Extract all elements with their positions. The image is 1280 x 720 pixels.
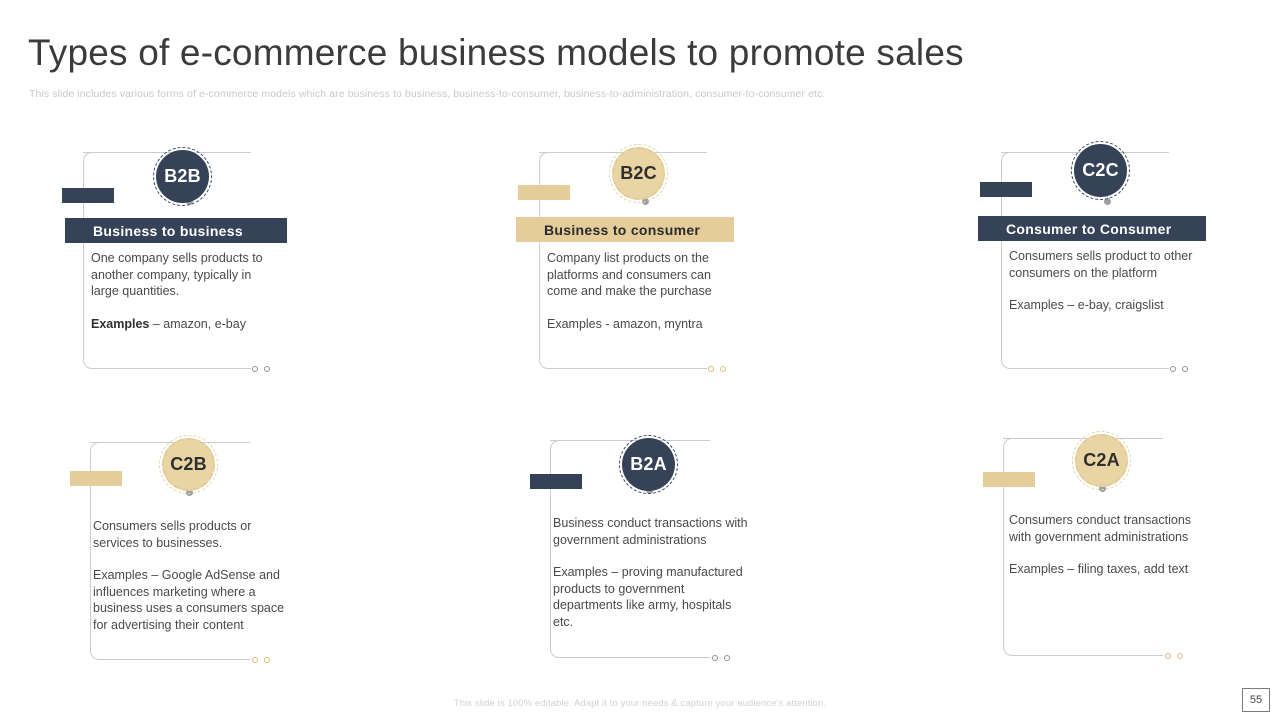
card-examples: Examples – amazon, e-bay <box>91 316 281 333</box>
card-accent-bar <box>62 188 114 203</box>
examples-text: – amazon, e-bay <box>149 317 246 331</box>
end-circle-2 <box>724 655 730 661</box>
examples-text: Examples – proving manufactured products… <box>553 565 743 629</box>
card-body: Business conduct transactions with gover… <box>553 515 751 630</box>
card-b2c[interactable]: B2C Business to consumer Company list pr… <box>518 140 748 380</box>
card-title: Business to consumer <box>544 222 700 238</box>
card-accent-bar <box>518 185 570 200</box>
badge-dashed-ring <box>619 435 678 494</box>
end-circle-1 <box>252 366 258 372</box>
page-subtitle: This slide includes various forms of e-c… <box>29 88 825 100</box>
page-title: Types of e-commerce business models to p… <box>28 32 964 74</box>
badge-b2a[interactable]: B2A <box>622 438 675 491</box>
card-description: Consumers conduct transactions with gove… <box>1009 512 1209 545</box>
badge-dashed-ring <box>1071 141 1130 200</box>
examples-text: Examples – Google AdSense and influences… <box>93 568 284 632</box>
slide-canvas: Types of e-commerce business models to p… <box>0 0 1280 720</box>
card-body: One company sells products to another co… <box>91 250 281 332</box>
examples-text: Examples - amazon, myntra <box>547 317 703 331</box>
card-c2a[interactable]: C2A Consumers conduct transactions with … <box>975 428 1210 663</box>
end-circle-2 <box>1182 366 1188 372</box>
badge-dashed-ring <box>1072 431 1131 490</box>
badge-b2b[interactable]: B2B <box>156 150 209 203</box>
badge-dashed-ring <box>159 435 218 494</box>
card-accent-bar <box>70 471 122 486</box>
card-title: Business to business <box>93 223 243 239</box>
card-end-circles <box>712 655 730 661</box>
end-circle-2 <box>720 366 726 372</box>
card-description: Consumers sells product to other consume… <box>1009 248 1217 281</box>
end-circle-1 <box>1165 653 1171 659</box>
badge-c2a[interactable]: C2A <box>1075 434 1128 487</box>
card-examples: Examples – filing taxes, add text <box>1009 561 1209 578</box>
card-accent-bar <box>530 474 582 489</box>
badge-dashed-ring <box>153 147 212 206</box>
examples-text: Examples – filing taxes, add text <box>1009 562 1188 576</box>
badge-c2b[interactable]: C2B <box>162 438 215 491</box>
card-examples: Examples - amazon, myntra <box>547 316 742 333</box>
card-description: Company list products on the platforms a… <box>547 250 742 300</box>
card-end-circles <box>708 366 726 372</box>
examples-label: Examples <box>91 317 149 331</box>
card-body: Consumers conduct transactions with gove… <box>1009 512 1209 578</box>
card-end-circles <box>252 657 270 663</box>
card-title-bar: Consumer to Consumer <box>978 216 1206 241</box>
card-description: Consumers sells products or services to … <box>93 518 286 551</box>
card-body: Consumers sells product to other consume… <box>1009 248 1217 314</box>
card-title-bar: Business to business <box>65 218 287 243</box>
card-end-circles <box>1165 653 1183 659</box>
card-accent-bar <box>980 182 1032 197</box>
card-description: Business conduct transactions with gover… <box>553 515 751 548</box>
card-end-circles <box>1170 366 1188 372</box>
card-c2c[interactable]: C2C Consumer to Consumer Consumers sells… <box>980 140 1210 380</box>
card-end-circles <box>252 366 270 372</box>
card-b2b[interactable]: B2B Business to business One company sel… <box>62 140 292 380</box>
footer-note: This slide is 100% editable. Adapt it to… <box>0 698 1280 709</box>
examples-text: Examples – e-bay, craigslist <box>1009 298 1164 312</box>
card-title: Consumer to Consumer <box>1006 221 1171 237</box>
card-body: Company list products on the platforms a… <box>547 250 742 332</box>
card-title-bar: Business to consumer <box>516 217 734 242</box>
card-c2b[interactable]: C2B Consumers sells products or services… <box>62 432 292 667</box>
end-circle-2 <box>264 657 270 663</box>
card-examples: Examples – e-bay, craigslist <box>1009 297 1217 314</box>
card-examples: Examples – proving manufactured products… <box>553 564 751 630</box>
card-accent-bar <box>983 472 1035 487</box>
end-circle-1 <box>252 657 258 663</box>
page-number: 55 <box>1250 694 1262 706</box>
end-circle-1 <box>1170 366 1176 372</box>
badge-c2c[interactable]: C2C <box>1074 144 1127 197</box>
end-circle-2 <box>1177 653 1183 659</box>
card-examples: Examples – Google AdSense and influences… <box>93 567 286 633</box>
card-body: Consumers sells products or services to … <box>93 518 286 633</box>
end-circle-2 <box>264 366 270 372</box>
card-description: One company sells products to another co… <box>91 250 281 300</box>
card-b2a[interactable]: B2A Business conduct transactions with g… <box>522 430 752 665</box>
page-number-box: 55 <box>1242 688 1270 712</box>
badge-b2c[interactable]: B2C <box>612 147 665 200</box>
end-circle-1 <box>712 655 718 661</box>
end-circle-1 <box>708 366 714 372</box>
badge-dashed-ring <box>609 144 668 203</box>
